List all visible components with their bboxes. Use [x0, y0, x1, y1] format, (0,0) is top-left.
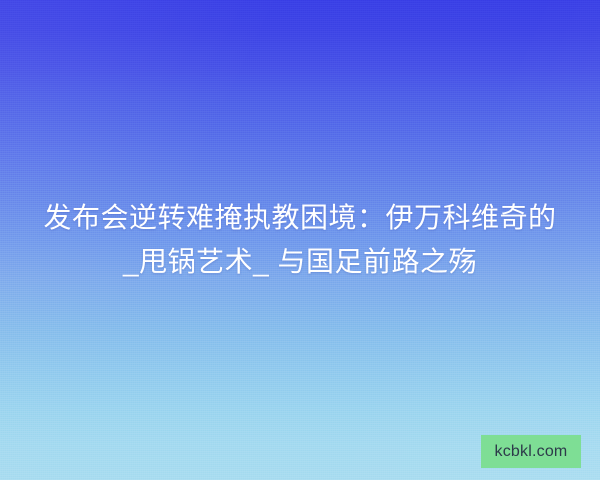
watermark-badge: kcbkl.com [481, 435, 581, 468]
poster-canvas: 发布会逆转难掩执教困境：伊万科维奇的 _甩锅艺术_ 与国足前路之殇 kcbkl.… [0, 0, 600, 480]
poster-title: 发布会逆转难掩执教困境：伊万科维奇的 _甩锅艺术_ 与国足前路之殇 [0, 196, 600, 284]
title-line-1: 发布会逆转难掩执教困境：伊万科维奇的 [14, 196, 586, 240]
title-line-2: _甩锅艺术_ 与国足前路之殇 [14, 240, 586, 284]
watermark-label: kcbkl.com [495, 444, 568, 460]
